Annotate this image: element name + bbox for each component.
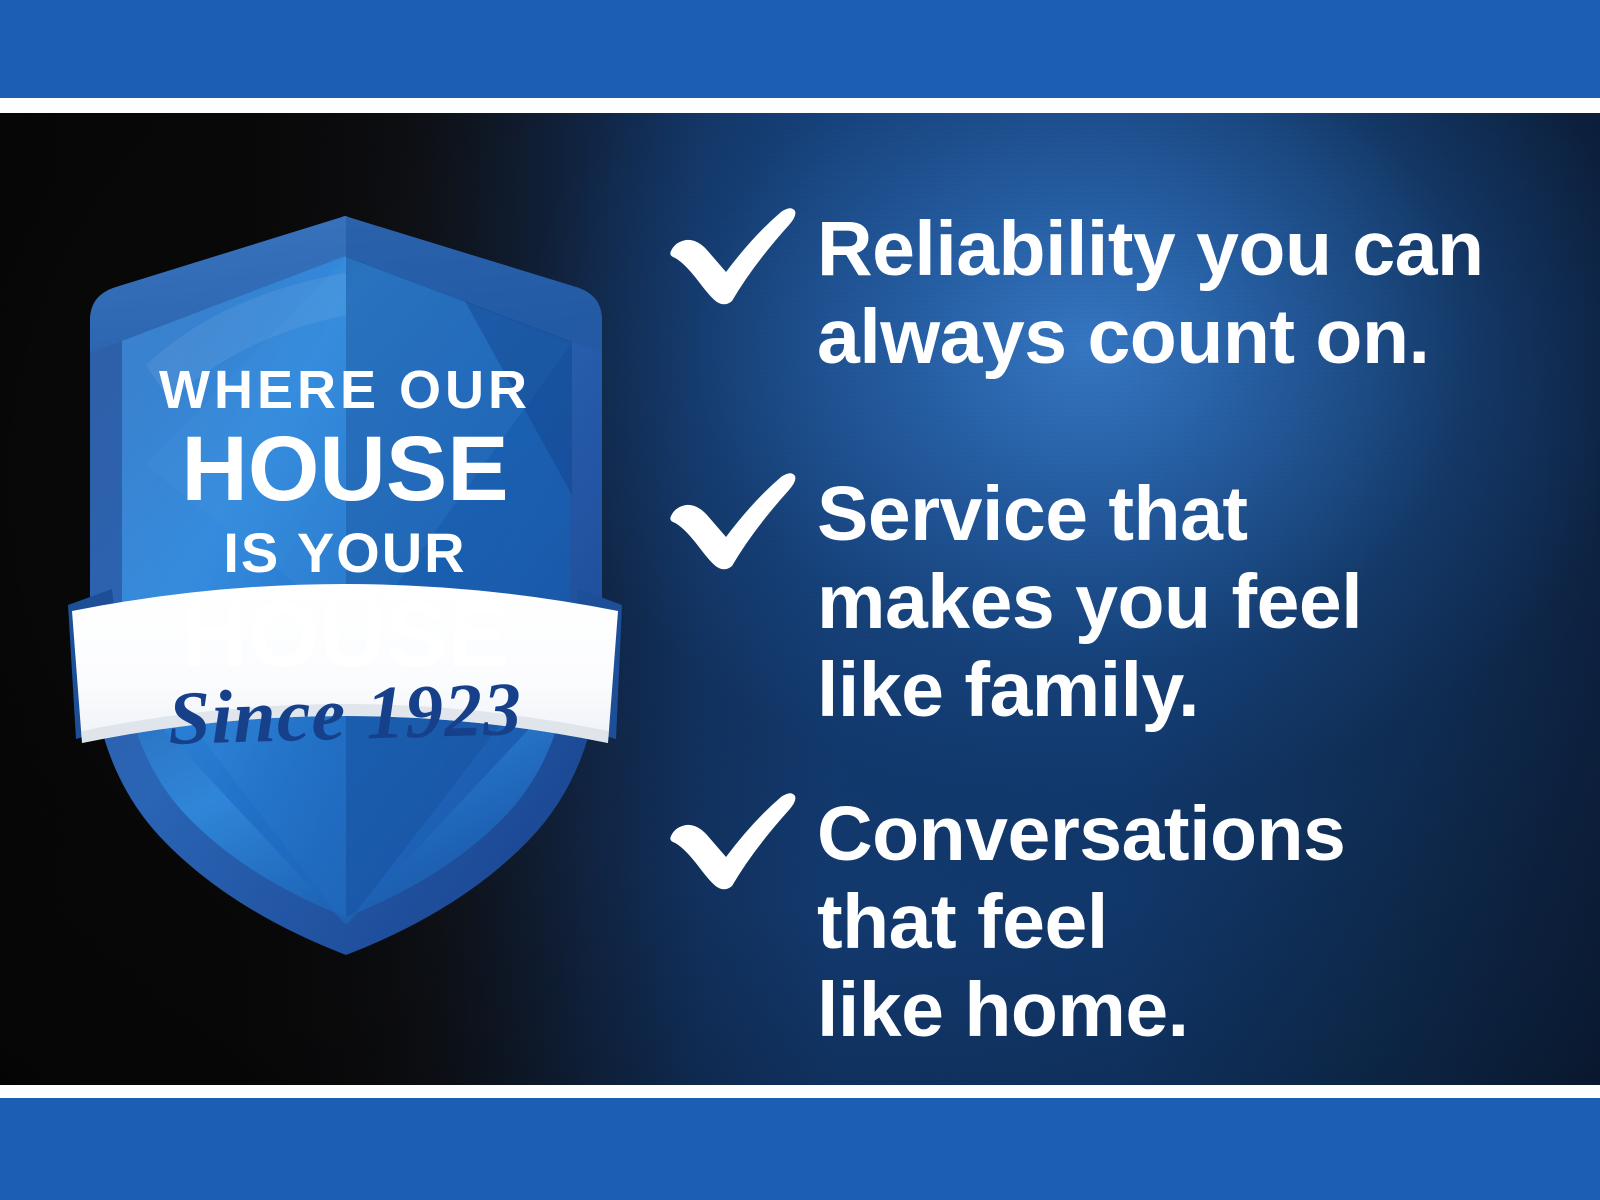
benefits-list: Reliability you can always count on. Ser… — [665, 113, 1565, 1085]
shield-badge: WHERE OUR HOUSE IS YOUR HOUSE Since 1923 — [60, 165, 630, 965]
benefit-text-3: Conversations that feel like home. — [817, 788, 1565, 1054]
promo-poster: WHERE OUR HOUSE IS YOUR HOUSE Since 1923… — [0, 0, 1600, 1200]
bottom-brand-bar — [0, 1098, 1600, 1200]
benefit-text-1: Reliability you can always count on. — [817, 203, 1565, 381]
checkmark-icon — [665, 788, 797, 892]
benefit-item-1: Reliability you can always count on. — [665, 203, 1565, 381]
benefit-text-2: Service that makes you feel like family. — [817, 468, 1565, 734]
top-brand-bar — [0, 0, 1600, 98]
checkmark-icon — [665, 203, 797, 307]
checkmark-icon — [665, 468, 797, 572]
benefit-item-2: Service that makes you feel like family. — [665, 468, 1565, 734]
benefit-item-3: Conversations that feel like home. — [665, 788, 1565, 1054]
